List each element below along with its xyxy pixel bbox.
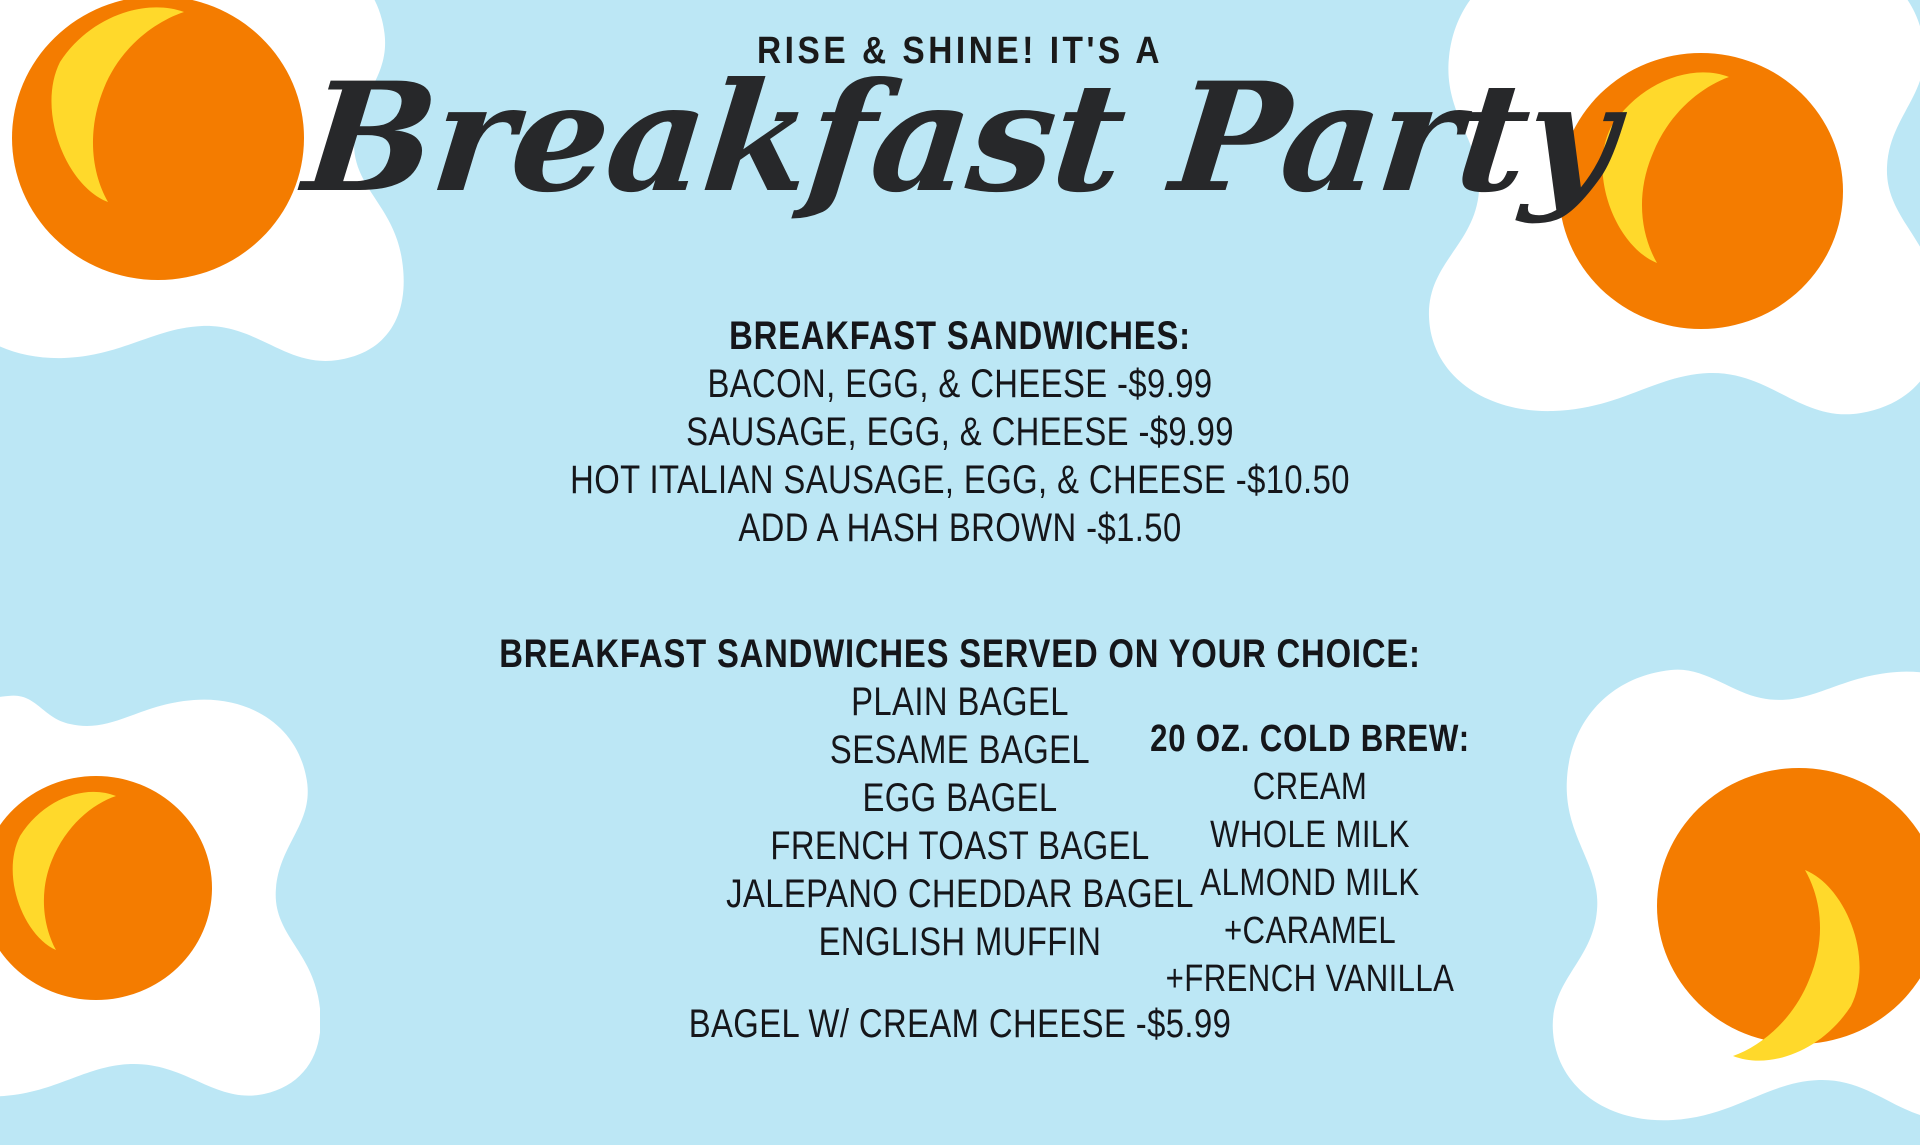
bread-choice-section: BREAKFAST SANDWICHES SERVED ON YOUR CHOI… (0, 630, 1920, 966)
cold-brew-heading: 20 OZ. COLD BREW: (1138, 715, 1482, 763)
bread-choice-heading: BREAKFAST SANDWICHES SERVED ON YOUR CHOI… (173, 630, 1747, 678)
menu-item: SAUSAGE, EGG, & CHEESE -$9.99 (173, 408, 1747, 456)
menu-item: CREAM (1138, 763, 1482, 811)
cold-brew-section: 20 OZ. COLD BREW: CREAM WHOLE MILK ALMON… (1100, 715, 1520, 1003)
menu-item: ALMOND MILK (1138, 859, 1482, 907)
page-title: Breakfast Party (0, 60, 1920, 218)
menu-item: WHOLE MILK (1138, 811, 1482, 859)
breakfast-sandwiches-heading: BREAKFAST SANDWICHES: (173, 312, 1747, 360)
menu-item: BACON, EGG, & CHEESE -$9.99 (173, 360, 1747, 408)
breakfast-sandwiches-section: BREAKFAST SANDWICHES: BACON, EGG, & CHEE… (0, 312, 1920, 552)
menu-item: +CARAMEL (1138, 907, 1482, 955)
bagel-cream-cheese-section: BAGEL W/ CREAM CHEESE -$5.99 (0, 1000, 1920, 1048)
menu-item: +FRENCH VANILLA (1138, 955, 1482, 1003)
poster-content: RISE & SHINE! IT'S A Breakfast Party BRE… (0, 0, 1920, 1145)
menu-item: ADD A HASH BROWN -$1.50 (173, 504, 1747, 552)
menu-item: HOT ITALIAN SAUSAGE, EGG, & CHEESE -$10.… (173, 456, 1747, 504)
breakfast-party-poster: RISE & SHINE! IT'S A Breakfast Party BRE… (0, 0, 1920, 1145)
menu-item: BAGEL W/ CREAM CHEESE -$5.99 (173, 1000, 1747, 1048)
